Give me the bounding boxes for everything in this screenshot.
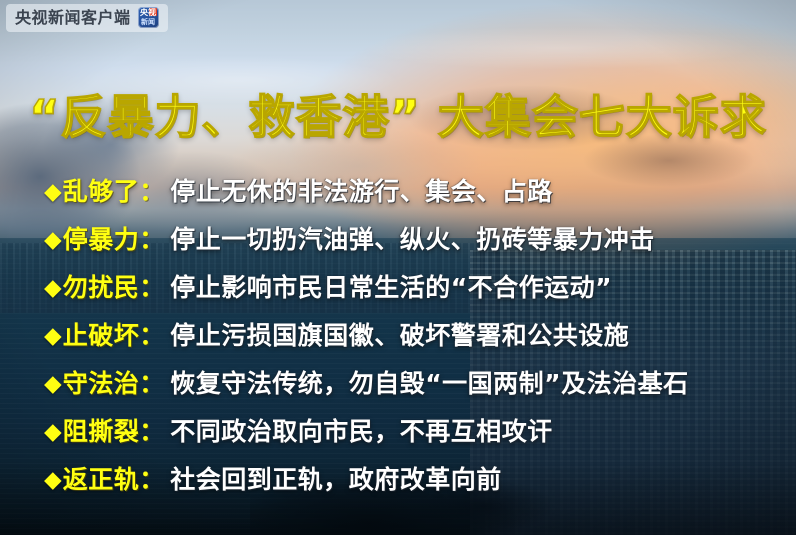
diamond-bullet-icon: ◆ bbox=[44, 229, 62, 252]
demand-colon: ： bbox=[139, 225, 164, 255]
diamond-bullet-icon: ◆ bbox=[44, 469, 62, 492]
watermark-label: 央视新闻客户端 bbox=[15, 9, 131, 27]
demand-label: 勿扰民 bbox=[63, 273, 140, 303]
demand-detail: 恢复守法传统，勿自毁“一国两制”及法治基石 bbox=[170, 369, 688, 399]
diamond-bullet-icon: ◆ bbox=[44, 325, 62, 348]
demand-detail: 不同政治取向市民，不再互相攻讦 bbox=[170, 417, 553, 447]
demand-detail: 停止无休的非法游行、集会、占路 bbox=[170, 177, 553, 207]
demand-colon: ： bbox=[139, 465, 164, 495]
logo-top-text: 央视 bbox=[139, 8, 158, 18]
channel-watermark: 央视新闻客户端 央视 新闻 bbox=[6, 4, 168, 32]
page-title: “反暴力、救香港” 大集会七大诉求 bbox=[0, 88, 796, 146]
diamond-bullet-icon: ◆ bbox=[44, 421, 62, 444]
list-item: ◆ 勿扰民 ： 停止影响市民日常生活的“不合作运动” bbox=[0, 264, 796, 312]
demand-colon: ： bbox=[139, 417, 164, 447]
demand-label: 返正轨 bbox=[63, 465, 140, 495]
list-item: ◆ 守法治 ： 恢复守法传统，勿自毁“一国两制”及法治基石 bbox=[0, 360, 796, 408]
demand-colon: ： bbox=[139, 177, 164, 207]
demand-detail: 社会回到正轨，政府改革向前 bbox=[170, 465, 502, 495]
list-item: ◆ 乱够了 ： 停止无休的非法游行、集会、占路 bbox=[0, 168, 796, 216]
demand-label: 止破坏 bbox=[63, 321, 140, 351]
demand-label: 守法治 bbox=[63, 369, 140, 399]
diamond-bullet-icon: ◆ bbox=[44, 373, 62, 396]
demand-label: 乱够了 bbox=[63, 177, 140, 207]
demand-colon: ： bbox=[139, 273, 164, 303]
news-graphic: 央视新闻客户端 央视 新闻 “反暴力、救香港” 大集会七大诉求 ◆ 乱够了 ： … bbox=[0, 0, 796, 535]
demand-label: 停暴力 bbox=[63, 225, 140, 255]
demand-detail: 停止一切扔汽油弹、纵火、扔砖等暴力冲击 bbox=[170, 225, 655, 255]
list-item: ◆ 返正轨 ： 社会回到正轨，政府改革向前 bbox=[0, 456, 796, 504]
demand-list: ◆ 乱够了 ： 停止无休的非法游行、集会、占路 ◆ 停暴力 ： 停止一切扔汽油弹… bbox=[0, 168, 796, 504]
demand-detail: 停止污损国旗国徽、破坏警署和公共设施 bbox=[170, 321, 629, 351]
demand-colon: ： bbox=[139, 369, 164, 399]
demand-detail: 停止影响市民日常生活的“不合作运动” bbox=[170, 273, 612, 303]
list-item: ◆ 阻撕裂 ： 不同政治取向市民，不再互相攻讦 bbox=[0, 408, 796, 456]
diamond-bullet-icon: ◆ bbox=[44, 277, 62, 300]
diamond-bullet-icon: ◆ bbox=[44, 181, 62, 204]
list-item: ◆ 停暴力 ： 停止一切扔汽油弹、纵火、扔砖等暴力冲击 bbox=[0, 216, 796, 264]
demand-colon: ： bbox=[139, 321, 164, 351]
logo-bottom-text: 新闻 bbox=[139, 18, 158, 27]
list-item: ◆ 止破坏 ： 停止污损国旗国徽、破坏警署和公共设施 bbox=[0, 312, 796, 360]
cctv-news-app-icon: 央视 新闻 bbox=[138, 7, 159, 28]
demand-label: 阻撕裂 bbox=[63, 417, 140, 447]
